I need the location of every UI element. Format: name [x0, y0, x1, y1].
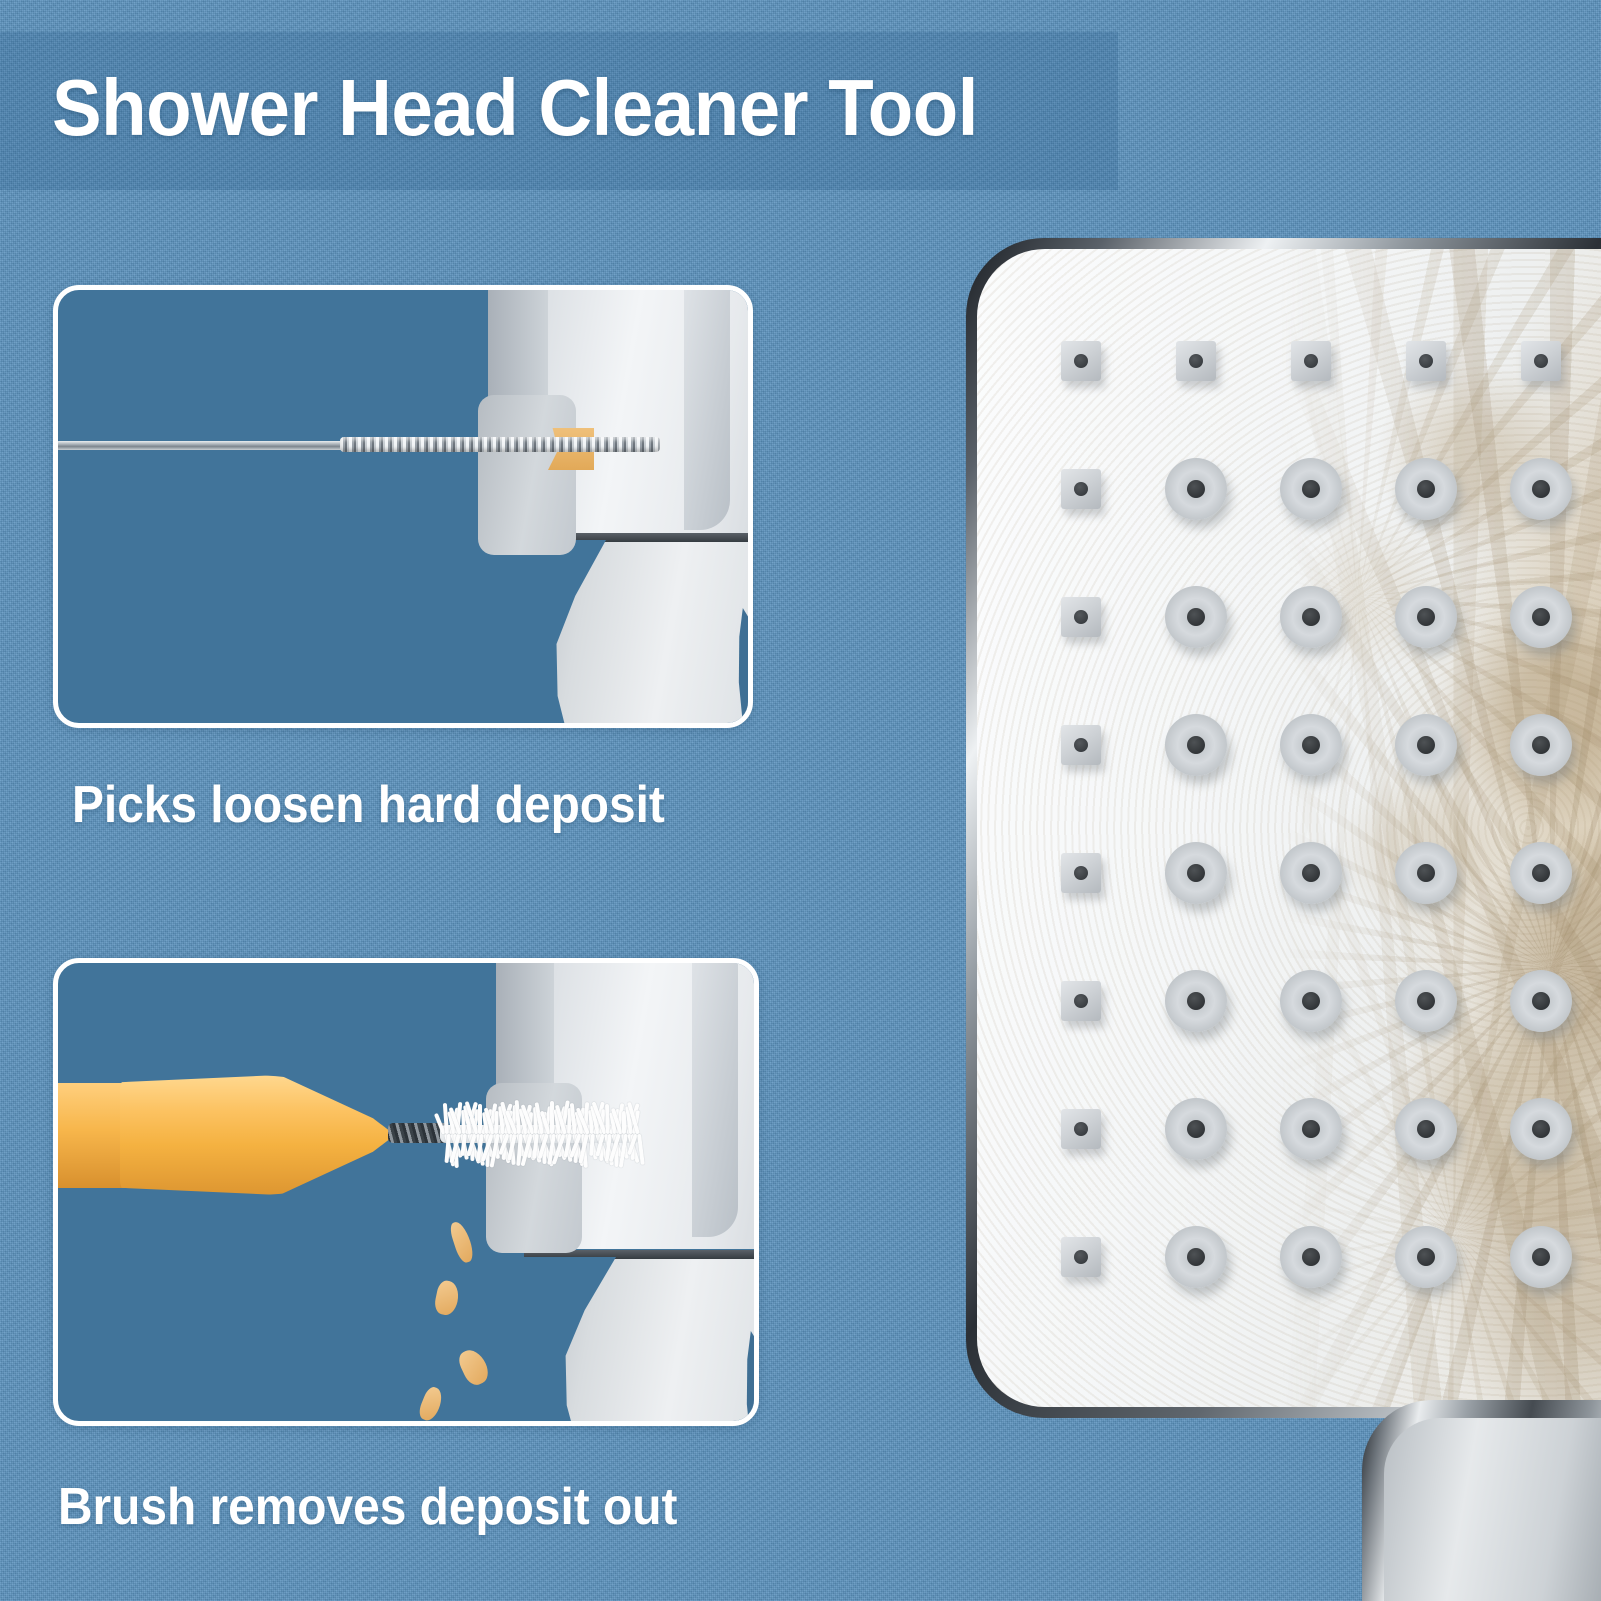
illustration-panel-picks	[53, 285, 753, 728]
nozzle-round	[1280, 714, 1342, 776]
nozzle-square	[1061, 469, 1101, 509]
debris-flake-icon	[433, 1279, 462, 1317]
debris-flake-icon	[456, 1346, 493, 1389]
nozzle-round	[1510, 842, 1572, 904]
nozzle-round	[1165, 1098, 1227, 1160]
nozzle-round	[1165, 1226, 1227, 1288]
nozzle-round	[1395, 1098, 1457, 1160]
nozzle-square	[1061, 853, 1101, 893]
nozzle-round	[1395, 714, 1457, 776]
nozzle-body-upper-edge	[692, 958, 738, 1237]
nozzle-round	[1510, 1226, 1572, 1288]
nozzle-square	[1176, 341, 1216, 381]
nozzle-round	[1165, 714, 1227, 776]
nozzle-square	[1061, 1109, 1101, 1149]
brush-handle-cone	[120, 1075, 395, 1195]
nozzle-round	[1395, 842, 1457, 904]
nozzle-round	[1395, 586, 1457, 648]
nozzle-round	[1165, 458, 1227, 520]
nozzle-round	[1510, 1098, 1572, 1160]
brush-handle-grip	[53, 1083, 128, 1188]
nozzle-square	[1291, 341, 1331, 381]
illustration-panel-brush	[53, 958, 759, 1426]
nozzle-round	[1510, 970, 1572, 1032]
nozzle-round	[1280, 586, 1342, 648]
nozzle-round	[1280, 458, 1342, 520]
nozzle-square	[1061, 1237, 1101, 1277]
shower-head-face	[977, 249, 1601, 1407]
nozzle-round	[1280, 1098, 1342, 1160]
nozzle-round	[1395, 1226, 1457, 1288]
nozzle-square	[1061, 597, 1101, 637]
nozzle-round	[1510, 458, 1572, 520]
nozzle-round	[1395, 458, 1457, 520]
title-band: Shower Head Cleaner Tool	[0, 32, 1118, 190]
nozzle-round	[1280, 1226, 1342, 1288]
nozzle-square	[1061, 725, 1101, 765]
pick-rod-shaft-icon	[56, 441, 346, 450]
brush-bristle	[550, 1101, 554, 1134]
nozzle-round	[1165, 970, 1227, 1032]
nozzle-square	[1061, 981, 1101, 1021]
nozzle-body-upper-edge	[684, 285, 730, 530]
page-title: Shower Head Cleaner Tool	[52, 62, 978, 154]
nozzle-square	[1521, 341, 1561, 381]
nozzle-square	[1406, 341, 1446, 381]
nozzle-round	[1510, 586, 1572, 648]
nozzle-round	[1395, 970, 1457, 1032]
debris-flake-icon	[416, 1385, 445, 1423]
caption-picks: Picks loosen hard deposit	[72, 775, 665, 835]
nozzle-round	[1280, 842, 1342, 904]
pick-rod-ribbed-tip-icon	[340, 437, 660, 452]
clogged-shower-head	[966, 238, 1601, 1418]
debris-flake-icon	[448, 1220, 476, 1265]
nozzle-collar	[478, 395, 576, 555]
shower-head-neck-inner	[1384, 1418, 1601, 1601]
brush-icon	[440, 1097, 640, 1171]
nozzle-round	[1165, 842, 1227, 904]
caption-brush: Brush removes deposit out	[58, 1477, 677, 1537]
nozzle-round	[1280, 970, 1342, 1032]
nozzle-round	[1510, 714, 1572, 776]
nozzle-square	[1061, 341, 1101, 381]
nozzle-round	[1165, 586, 1227, 648]
